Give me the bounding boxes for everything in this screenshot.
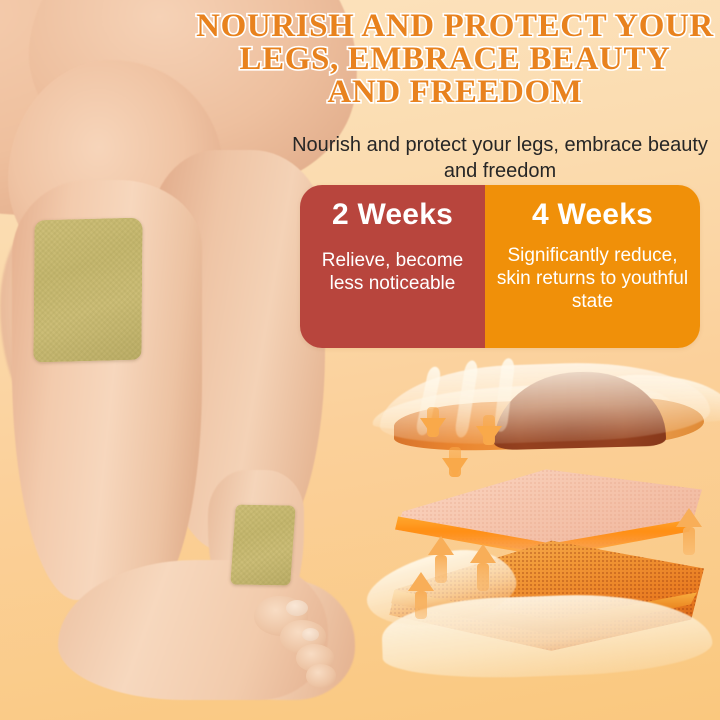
heat-arrow-down-icon [442,458,468,477]
panel-2-weeks-description: Relieve, become less noticeable [308,249,477,295]
panel-4-weeks-title: 4 Weeks [532,195,653,235]
heat-arrow-up-icon [428,536,454,555]
headline: NOURISH AND PROTECT YOUR LEGS, EMBRACE B… [196,10,714,109]
heat-arrow-up-icon [676,508,702,527]
panel-4-weeks-description: Significantly reduce, skin returns to yo… [493,244,692,313]
heat-arrow-up-icon [408,572,434,591]
heat-arrow-down-icon [476,426,502,445]
patch-on-ankle [230,505,296,586]
toenail-shape [286,600,308,616]
subtitle: Nourish and protect your legs, embrace b… [292,132,708,184]
panel-2-weeks: 2 Weeks Relieve, become less noticeable [300,185,485,348]
headline-line-3: AND FREEDOM [196,76,714,109]
panel-2-weeks-title: 2 Weeks [332,195,453,235]
timeline-results-card: 2 Weeks Relieve, become less noticeable … [300,185,700,348]
heat-arrow-down-icon [420,418,446,437]
toe-shape [306,664,336,688]
product-layers-illustration [398,358,720,688]
headline-line-1: NOURISH AND PROTECT YOUR [196,10,714,43]
product-ad-canvas: NOURISH AND PROTECT YOUR LEGS, EMBRACE B… [0,0,720,720]
patch-on-calf [33,218,142,363]
headline-line-2: LEGS, EMBRACE BEAUTY [196,43,714,76]
toenail-shape [302,628,319,641]
heat-arrow-up-icon [470,544,496,563]
panel-4-weeks: 4 Weeks Significantly reduce, skin retur… [485,185,700,348]
subtitle-line-1: Nourish and protect your legs, embrace [292,134,642,156]
